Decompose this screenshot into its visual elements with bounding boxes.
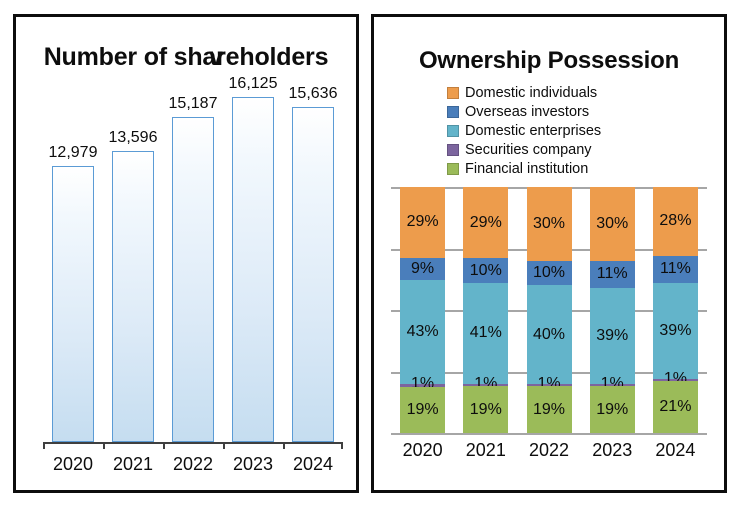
ownership-stacked-bar[interactable]: 30%11%39%1%19% <box>590 187 635 433</box>
ownership-bar-slot: 30%11%39%1%19% <box>581 187 644 433</box>
ownership-segment[interactable]: 30% <box>527 187 572 261</box>
ownership-bar-slot: 29%9%43%1%19% <box>391 187 454 433</box>
ownership-stacked-bars: 29%9%43%1%19%29%10%41%1%19%30%10%40%1%19… <box>391 187 707 433</box>
ownership-segment-label: 10% <box>527 265 572 281</box>
left-chart-panel: Number of shareholdersv 12,97913,59615,1… <box>13 14 359 493</box>
shareholders-value-label: 15,636 <box>283 85 343 103</box>
legend-item-label: Domestic individuals <box>465 86 597 101</box>
legend-item[interactable]: Domestic enterprises <box>447 122 707 140</box>
ownership-segment[interactable]: 11% <box>653 256 698 283</box>
left-category-label: 2022 <box>163 454 223 475</box>
right-chart-panel: Ownership Possession Domestic individual… <box>371 14 727 493</box>
right-category-label: 2021 <box>454 440 517 461</box>
ownership-segment[interactable]: 19% <box>527 386 572 433</box>
ownership-segment-label: 19% <box>527 402 572 418</box>
left-axis-line <box>43 442 343 444</box>
right-chart-title: Ownership Possession <box>374 47 724 75</box>
shareholders-bar[interactable] <box>172 117 214 442</box>
ownership-plot-area: 29%9%43%1%19%29%10%41%1%19%30%10%40%1%19… <box>391 187 707 433</box>
ownership-segment[interactable]: 19% <box>590 386 635 433</box>
shareholders-value-label: 12,979 <box>43 144 103 162</box>
ownership-bar-slot: 29%10%41%1%19% <box>454 187 517 433</box>
ownership-segment[interactable]: 10% <box>463 258 508 283</box>
right-category-label: 2020 <box>391 440 454 461</box>
shareholders-bar-slot: 15,636 <box>283 92 343 442</box>
right-panel-inner: Ownership Possession Domestic individual… <box>374 17 724 490</box>
shareholders-plot-area: 12,97913,59615,18716,12515,636 <box>43 92 343 442</box>
left-chart-title: Number of shareholdersv <box>16 43 356 72</box>
shareholders-value-label: 16,125 <box>223 75 283 93</box>
left-panel-inner: Number of shareholdersv 12,97913,59615,1… <box>16 17 356 490</box>
ownership-segment[interactable]: 28% <box>653 187 698 256</box>
shareholders-value-label: 15,187 <box>163 95 223 113</box>
ownership-segment-label: 30% <box>527 216 572 232</box>
ownership-segment-label: 19% <box>463 402 508 418</box>
legend-item[interactable]: Domestic individuals <box>447 84 707 102</box>
left-category-label: 2020 <box>43 454 103 475</box>
legend-swatch-icon <box>447 144 459 156</box>
ownership-stacked-bar[interactable]: 29%10%41%1%19% <box>463 187 508 433</box>
legend-swatch-icon <box>447 163 459 175</box>
ownership-segment-label: 41% <box>463 325 508 341</box>
legend-item[interactable]: Securities company <box>447 141 707 159</box>
left-category-label: 2021 <box>103 454 163 475</box>
legend-swatch-icon <box>447 125 459 137</box>
ownership-segment-label: 10% <box>463 263 508 279</box>
legend-item[interactable]: Financial institution <box>447 160 707 178</box>
ownership-segment-label: 19% <box>590 402 635 418</box>
ownership-segment-label: 43% <box>400 324 445 340</box>
left-axis-tick <box>223 442 225 449</box>
ownership-segment[interactable]: 40% <box>527 285 572 383</box>
ownership-segment[interactable]: 39% <box>653 283 698 379</box>
ownership-stacked-bar[interactable]: 30%10%40%1%19% <box>527 187 572 433</box>
figure-root: Number of shareholdersv 12,97913,59615,1… <box>0 0 741 507</box>
shareholders-bar-slot: 13,596 <box>103 92 163 442</box>
shareholders-bar-slot: 12,979 <box>43 92 103 442</box>
ownership-legend: Domestic individualsOverseas investorsDo… <box>447 84 707 179</box>
ownership-segment[interactable]: 10% <box>527 261 572 286</box>
legend-swatch-icon <box>447 106 459 118</box>
ownership-segment[interactable]: 29% <box>400 187 445 258</box>
ownership-segment[interactable]: 39% <box>590 288 635 384</box>
ownership-segment[interactable]: 11% <box>590 261 635 288</box>
ownership-stacked-bar[interactable]: 29%9%43%1%19% <box>400 187 445 433</box>
ownership-segment[interactable]: 30% <box>590 187 635 261</box>
ownership-segment[interactable]: 9% <box>400 258 445 280</box>
legend-item-label: Securities company <box>465 143 592 158</box>
shareholders-bar-slot: 15,187 <box>163 92 223 442</box>
ownership-segment-label: 9% <box>400 261 445 277</box>
ownership-segment[interactable]: 41% <box>463 283 508 384</box>
legend-item-label: Domestic enterprises <box>465 124 601 139</box>
left-axis-tick <box>103 442 105 449</box>
left-axis-tick <box>283 442 285 449</box>
legend-item[interactable]: Overseas investors <box>447 103 707 121</box>
ownership-segment-label: 19% <box>400 402 445 418</box>
ownership-segment-label: 39% <box>653 323 698 339</box>
ownership-bar-slot: 30%10%40%1%19% <box>517 187 580 433</box>
title-overlap-host: reholdersv <box>216 43 328 72</box>
ownership-segment[interactable]: 21% <box>653 381 698 433</box>
ownership-segment-label: 40% <box>527 327 572 343</box>
legend-item-label: Financial institution <box>465 162 588 177</box>
shareholders-bar-slot: 16,125 <box>223 92 283 442</box>
left-axis-tick <box>43 442 45 449</box>
right-category-labels: 20202021202220232024 <box>391 440 707 461</box>
shareholders-value-label: 13,596 <box>103 129 163 147</box>
ownership-segment-label: 30% <box>590 216 635 232</box>
ownership-segment-label: 28% <box>653 213 698 229</box>
ownership-stacked-bar[interactable]: 28%11%39%1%21% <box>653 187 698 433</box>
left-axis-tick <box>163 442 165 449</box>
ownership-segment[interactable]: 19% <box>400 387 445 433</box>
right-category-label: 2022 <box>517 440 580 461</box>
shareholders-bar[interactable] <box>112 151 154 442</box>
left-axis-tick <box>341 442 343 449</box>
shareholders-bar[interactable] <box>232 97 274 442</box>
left-chart-title-text: Number of shareholdersv <box>44 43 329 72</box>
ownership-segment[interactable]: 19% <box>463 386 508 433</box>
title-suffix: reholders <box>216 43 328 71</box>
ownership-bar-slot: 28%11%39%1%21% <box>644 187 707 433</box>
ownership-segment-label: 21% <box>653 399 698 415</box>
left-category-label: 2024 <box>283 454 343 475</box>
ownership-segment-label: 11% <box>653 261 698 277</box>
ownership-segment-label: 39% <box>590 328 635 344</box>
shareholders-bar[interactable] <box>292 107 334 442</box>
title-overlap-glyph: v <box>209 43 223 72</box>
left-category-label: 2023 <box>223 454 283 475</box>
ownership-segment-label: 29% <box>400 214 445 230</box>
legend-swatch-icon <box>447 87 459 99</box>
right-category-label: 2023 <box>581 440 644 461</box>
shareholders-bar[interactable] <box>52 166 94 442</box>
left-category-labels: 20202021202220232024 <box>43 454 343 475</box>
title-prefix: Number of sha <box>44 43 216 71</box>
ownership-segment[interactable]: 43% <box>400 280 445 385</box>
ownership-segment-label: 29% <box>463 215 508 231</box>
legend-item-label: Overseas investors <box>465 105 589 120</box>
right-category-label: 2024 <box>644 440 707 461</box>
ownership-segment-label: 11% <box>590 266 635 282</box>
shareholders-bars: 12,97913,59615,18716,12515,636 <box>43 92 343 442</box>
ownership-segment[interactable]: 29% <box>463 187 508 258</box>
left-x-axis <box>43 442 343 449</box>
ownership-gridline <box>391 433 707 435</box>
